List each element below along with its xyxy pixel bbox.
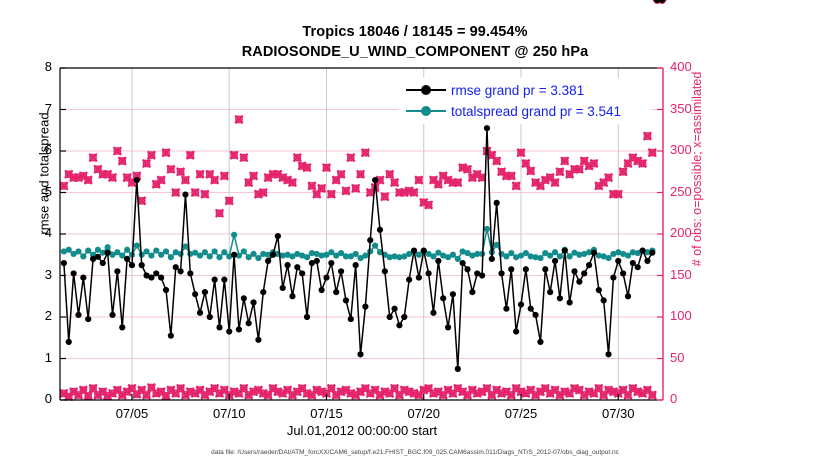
y-tick-right: 0 (670, 391, 710, 406)
legend-label-rmse: rmse grand pr = 3.381 (451, 83, 584, 98)
y-tick-left: 4 (20, 225, 52, 240)
y-tick-right: 250 (670, 184, 710, 199)
x-tick-label: 07/05 (102, 406, 162, 421)
x-tick-label: 07/20 (394, 406, 454, 421)
y-tick-right: 300 (670, 142, 710, 157)
x-tick-label: 07/15 (296, 406, 356, 421)
chart-legend: rmse grand pr = 3.381 totalspread grand … (399, 78, 651, 124)
y-tick-left: 5 (20, 184, 52, 199)
y-tick-right: 50 (670, 350, 710, 365)
x-tick-label: 07/25 (491, 406, 551, 421)
legend-line-marker-icon (406, 104, 446, 118)
y-tick-left: 6 (20, 142, 52, 157)
x-axis-label: Jul.01,2012 00:00:00 start (0, 423, 724, 438)
y-tick-left: 2 (20, 308, 52, 323)
y-tick-right: 100 (670, 308, 710, 323)
y-tick-right: 350 (670, 101, 710, 116)
y-tick-left: 0 (20, 391, 52, 406)
figure-canvas: Tropics 18046 / 18145 = 99.454% RADIOSON… (0, 0, 830, 470)
y-tick-left: 1 (20, 350, 52, 365)
y-tick-right: 150 (670, 267, 710, 282)
x-tick-label: 07/30 (588, 406, 648, 421)
data-file-footer: data file: /Users/raeder/DAI/ATM_forcXX/… (0, 449, 830, 456)
y-tick-right: 400 (670, 59, 710, 74)
y-tick-left: 3 (20, 267, 52, 282)
legend-item-rmse: rmse grand pr = 3.381 (406, 80, 584, 100)
y-tick-left: 8 (20, 59, 52, 74)
y-tick-left: 7 (20, 101, 52, 116)
x-tick-label: 07/10 (199, 406, 259, 421)
legend-item-totalspread: totalspread grand pr = 3.541 (406, 101, 621, 121)
legend-line-marker-icon (406, 83, 446, 97)
y-tick-right: 200 (670, 225, 710, 240)
legend-label-totalspread: totalspread grand pr = 3.541 (451, 104, 621, 119)
